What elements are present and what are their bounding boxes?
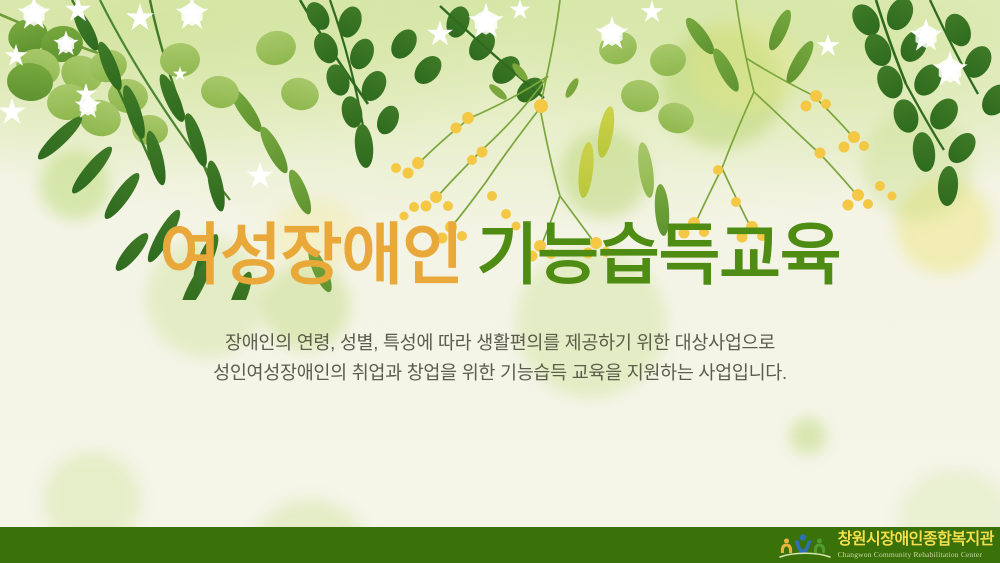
subtitle-line-2: 성인여성장애인의 취업과 창업을 위한 기능습득 교육을 지원하는 사업입니다.: [0, 358, 1000, 388]
title-part-one: 여성장애인: [159, 218, 462, 293]
logo-figure-center: [794, 534, 811, 553]
poster-canvas: 여성장애인기능습득교육 장애인의 연령, 성별, 특성에 따라 생활편의를 제공…: [0, 0, 1000, 563]
foliage-right-center: [576, 0, 896, 243]
logo-korean-name: 창원시장애인종합복지관: [838, 532, 994, 548]
logo-arc: [780, 553, 830, 557]
logo-mark-icon: [778, 531, 832, 559]
foliage-far-right: [817, 0, 1000, 207]
logo-figure-left: [780, 539, 791, 554]
subtitle-block: 장애인의 연령, 성별, 특성에 따라 생활편의를 제공하기 위한 대상사업으로…: [0, 328, 1000, 388]
logo-english-name: Changwon Community Rehabilitation Center: [838, 551, 994, 559]
organization-logo: 창원시장애인종합복지관 Changwon Community Rehabilit…: [778, 529, 994, 561]
bokeh-circle-green: [790, 418, 826, 454]
logo-figure-right: [813, 539, 824, 554]
page-title: 여성장애인기능습득교육: [0, 222, 1000, 289]
subtitle-line-1: 장애인의 연령, 성별, 특성에 따라 생활편의를 제공하기 위한 대상사업으로: [0, 328, 1000, 358]
foliage-center-left: [300, 0, 548, 169]
logo-text-block: 창원시장애인종합복지관 Changwon Community Rehabilit…: [838, 532, 994, 559]
title-part-two: 기능습득교육: [477, 218, 841, 293]
footer-bar: 창원시장애인종합복지관 Changwon Community Rehabilit…: [0, 527, 1000, 563]
